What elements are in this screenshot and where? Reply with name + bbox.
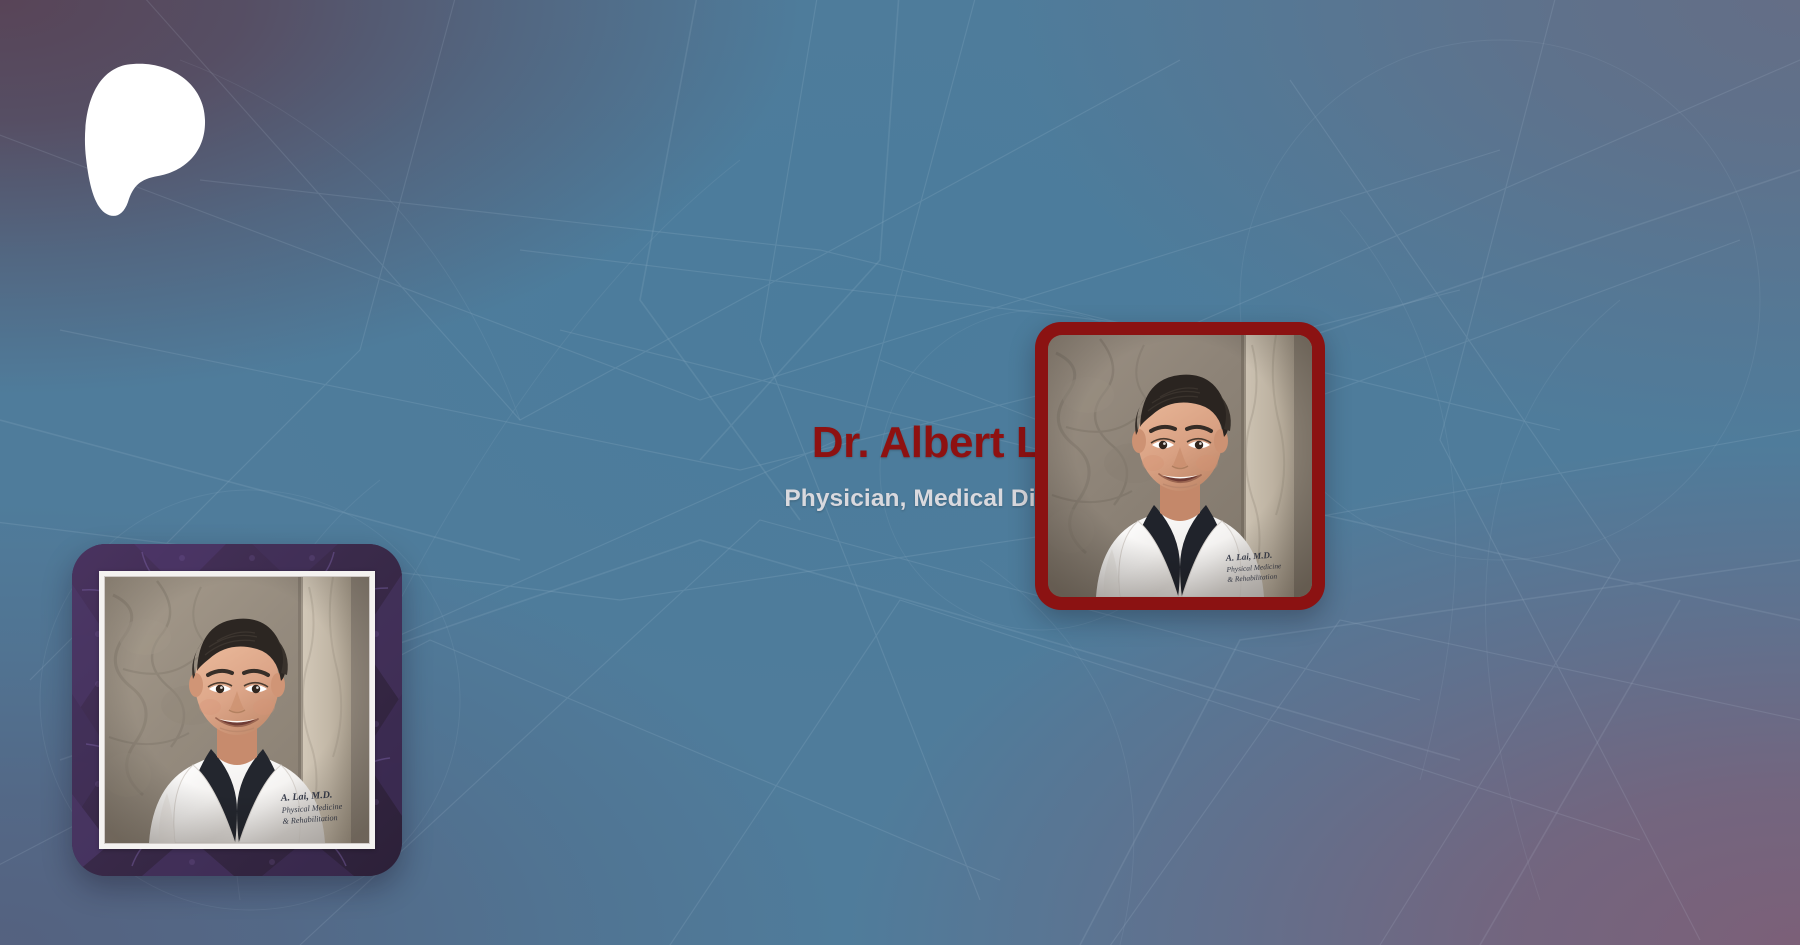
portrait-photo: A. Lai, M.D. Physical Medicine & Rehabil… xyxy=(105,577,369,843)
slide-canvas: Dr. Albert Lai Physician, Medical Direct… xyxy=(0,0,1800,945)
photo-card-purple-frame[interactable]: A. Lai, M.D. Physical Medicine & Rehabil… xyxy=(72,544,402,876)
photo-clip: A. Lai, M.D. Physical Medicine & Rehabil… xyxy=(1048,335,1312,597)
photo-white-mat: A. Lai, M.D. Physical Medicine & Rehabil… xyxy=(99,571,375,849)
portrait-photo: A. Lai, M.D. Physical Medicine & Rehabil… xyxy=(1048,335,1312,597)
photo-clip: A. Lai, M.D. Physical Medicine & Rehabil… xyxy=(104,576,370,844)
patreon-logo-icon[interactable] xyxy=(78,62,206,217)
photo-card-red-frame[interactable]: A. Lai, M.D. Physical Medicine & Rehabil… xyxy=(1035,322,1325,610)
